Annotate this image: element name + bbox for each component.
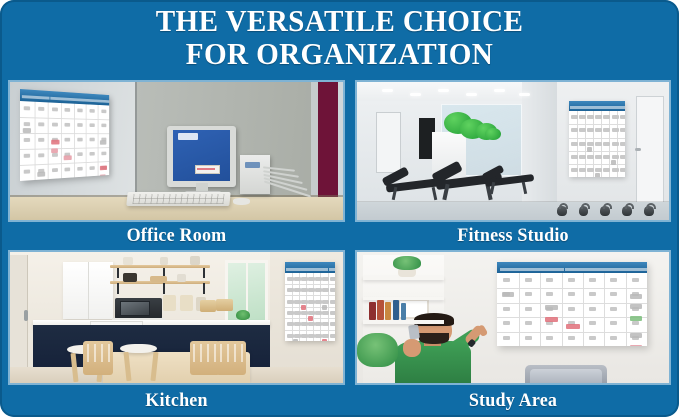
wall-calendar-fitness <box>569 101 625 177</box>
calendar-row-line <box>497 288 647 289</box>
calendar-day-number <box>65 108 71 112</box>
calendar-day-number <box>579 115 586 119</box>
shelf-item <box>177 274 187 282</box>
calendar-row-line <box>497 317 647 318</box>
calendar-row-line <box>569 164 625 165</box>
calendar-day-number <box>525 336 532 340</box>
calendar-day-number <box>322 311 329 315</box>
calendar-day-number <box>525 307 532 311</box>
calendar-weekday-label <box>300 268 307 271</box>
calendar-day-number <box>315 334 322 338</box>
calendar-note <box>322 339 327 341</box>
calendar-weekday-label <box>321 268 328 271</box>
kettlebell <box>600 206 610 216</box>
calendar-note <box>308 316 313 321</box>
calendar-day-number <box>77 138 82 142</box>
calendar-column-line <box>626 273 627 346</box>
photo-fitness-studio <box>355 80 671 222</box>
calendar-note <box>51 139 59 144</box>
photo-kitchen <box>8 250 345 385</box>
bookshelf-shelf <box>363 297 444 301</box>
panel-grid: Office Room Fitness Studio <box>8 80 671 410</box>
calendar-day-number <box>24 122 30 126</box>
calendar-day-number <box>620 155 626 159</box>
calendar-day-number <box>308 300 315 304</box>
page-title: THE VERSATILE CHOICE FOR ORGANIZATION <box>20 4 658 70</box>
calendar-header-band <box>285 262 335 272</box>
calendar-note <box>545 317 558 322</box>
calendar-day-number <box>603 155 610 159</box>
ceiling-light <box>494 89 505 92</box>
plant-pot <box>398 269 417 277</box>
calendar-grid <box>569 111 625 177</box>
calendar-weekday-label <box>570 106 578 109</box>
calendar-day-number <box>589 336 596 340</box>
dining-chair <box>190 341 220 375</box>
wall-calendar-study <box>497 262 647 346</box>
calendar-day-number <box>24 170 30 174</box>
shelf-item <box>123 257 133 265</box>
calendar-day-number <box>330 322 335 326</box>
calendar-day-number <box>612 155 619 159</box>
calendar-day-number <box>620 168 626 172</box>
calendar-day-number <box>287 300 294 304</box>
person-beard <box>419 333 449 344</box>
photo-study-area <box>355 250 671 385</box>
calendar-row-line <box>20 133 109 134</box>
ceiling-light <box>466 93 477 96</box>
calendar-row-line <box>285 284 335 285</box>
calendar-day-number <box>503 278 510 282</box>
calendar-day-number <box>38 122 44 126</box>
calendar-day-number <box>603 168 610 172</box>
book <box>369 302 375 320</box>
mouse <box>233 198 250 205</box>
calendar-day-number <box>308 311 315 315</box>
calendar-day-number <box>587 128 594 132</box>
calendar-note <box>630 294 642 299</box>
calendar-day-number <box>610 307 617 311</box>
shelf-bracket <box>203 283 205 293</box>
calendar-day-number <box>301 288 308 292</box>
kitchen-plant <box>236 310 249 320</box>
floor-plant <box>357 333 398 367</box>
title-line-2: FOR ORGANIZATION <box>20 37 658 70</box>
weight-bench <box>482 168 538 196</box>
calendar-day-number <box>322 288 329 292</box>
kettlebell <box>557 206 567 216</box>
calendar-day-number <box>287 334 294 338</box>
calendar-day-number <box>587 142 594 146</box>
calendar-row-line <box>569 138 625 139</box>
calendar-weekday-label <box>314 268 321 271</box>
calendar-day-number <box>301 300 308 304</box>
shelf-bracket <box>117 268 119 278</box>
calendar-day-number <box>301 311 308 315</box>
calendar-day-number <box>294 322 301 326</box>
calendar-day-number <box>315 322 322 326</box>
calendar-day-number <box>568 278 575 282</box>
scene-office-room <box>10 82 343 220</box>
calendar-weekday-label <box>586 268 607 271</box>
calendar-day-number <box>308 334 315 338</box>
calendar-weekday-label <box>76 98 88 101</box>
calendar-weekday-label <box>293 268 300 271</box>
calendar-row-line <box>497 303 647 304</box>
office-maroon-panel <box>318 82 338 201</box>
calendar-column-line <box>583 273 584 346</box>
calendar-column-line <box>48 102 49 179</box>
calendar-day-number <box>77 108 82 112</box>
calendar-day-number <box>52 122 58 126</box>
calendar-note <box>51 148 58 153</box>
book <box>385 302 391 320</box>
calendar-weekday-label <box>522 268 543 271</box>
calendar-day-number <box>308 322 315 326</box>
calendar-day-number <box>287 311 294 315</box>
office-wall-corner <box>135 82 137 198</box>
calendar-day-number <box>52 153 58 157</box>
sticky-note-text <box>197 168 215 170</box>
calendar-day-number <box>101 109 106 113</box>
calendar-row-line <box>285 295 335 296</box>
calendar-note <box>64 156 72 161</box>
calendar-note <box>630 316 642 321</box>
calendar-day-number <box>632 321 639 325</box>
kettlebell <box>644 206 654 216</box>
calendar-day-number <box>595 155 602 159</box>
caption-office-room: Office Room <box>16 222 336 250</box>
shelf-item <box>163 295 176 311</box>
calendar-day-number <box>620 128 626 132</box>
title-line-1: THE VERSATILE CHOICE <box>156 3 524 38</box>
book <box>393 300 399 320</box>
calendar-column-line <box>540 273 541 346</box>
calendar-day-number <box>579 155 586 159</box>
calendar-day-number <box>89 138 94 142</box>
calendar-day-number <box>603 115 610 119</box>
calendar-weekday-label <box>607 268 628 271</box>
book <box>377 300 383 320</box>
calendar-day-number <box>589 278 596 282</box>
calendar-day-number <box>287 277 294 281</box>
calendar-note <box>301 305 306 310</box>
calendar-day-number <box>330 300 335 304</box>
calendar-note <box>545 305 558 310</box>
calendar-day-number <box>612 168 619 172</box>
calendar-day-number <box>571 128 578 132</box>
calendar-day-number <box>587 168 594 172</box>
keyboard <box>126 192 231 206</box>
calendar-day-number <box>579 128 586 132</box>
shelf-bracket <box>203 268 205 278</box>
calendar-day-number <box>24 154 30 158</box>
calendar-weekday-label <box>610 106 618 109</box>
calendar-day-number <box>589 292 596 296</box>
door-handle-icon <box>24 310 28 322</box>
scene-kitchen <box>10 252 343 383</box>
calendar-day-number <box>65 167 71 171</box>
calendar-day-number <box>89 123 94 127</box>
calendar-note <box>630 333 642 338</box>
calendar-note <box>293 339 298 341</box>
calendar-day-number <box>294 277 301 281</box>
calendar-day-number <box>308 277 315 281</box>
shelf-item <box>190 256 200 265</box>
calendar-weekday-label <box>500 268 521 271</box>
calendar-day-number <box>525 321 532 325</box>
calendar-note <box>502 292 514 297</box>
calendar-day-number <box>610 336 617 340</box>
cutting-board <box>200 300 217 312</box>
calendar-day-number <box>294 334 301 338</box>
calendar-weekday-label <box>63 98 76 101</box>
calendar-day-number <box>587 155 594 159</box>
calendar-day-number <box>587 115 594 119</box>
calendar-day-number <box>77 123 82 127</box>
caption-kitchen: Kitchen <box>16 385 336 417</box>
chair-slats <box>87 344 110 362</box>
calendar-day-number <box>294 300 301 304</box>
cable-bundle <box>263 165 316 195</box>
calendar-day-number <box>315 300 322 304</box>
calendar-day-number <box>620 115 626 119</box>
calendar-day-number <box>101 152 106 156</box>
keyboard-keys <box>132 194 224 204</box>
panel-study-area <box>355 250 671 385</box>
calendar-weekday-label <box>50 97 63 101</box>
calendar-note <box>630 345 642 346</box>
calendar-day-number <box>571 168 578 172</box>
calendar-day-number <box>595 128 602 132</box>
scene-study-area <box>357 252 669 383</box>
ceiling-light <box>410 93 421 96</box>
calendar-day-number <box>294 311 301 315</box>
calendar-day-number <box>65 123 71 127</box>
calendar-weekday-label <box>618 106 625 109</box>
shelf-item <box>123 273 136 282</box>
calendar-row-line <box>285 307 335 308</box>
monitor-logo <box>178 133 198 140</box>
wall-calendar-kitchen <box>285 262 335 341</box>
kettlebell <box>579 206 589 216</box>
calendar-header-band <box>497 262 647 273</box>
calendar-note <box>587 147 593 152</box>
calendar-day-number <box>330 311 335 315</box>
calendar-day-number <box>315 311 322 315</box>
calendar-weekday-label <box>36 96 50 100</box>
microwave-door <box>120 301 150 315</box>
laptop-screen <box>530 369 602 383</box>
calendar-column-line <box>519 273 520 346</box>
calendar-weekday-label <box>99 100 109 103</box>
calendar-day-number <box>24 138 30 142</box>
calendar-day-number <box>301 322 308 326</box>
calendar-day-number <box>77 167 82 171</box>
cabinet-seam <box>88 262 89 318</box>
shelf-item <box>180 295 193 311</box>
calendar-weekday-label <box>286 268 293 271</box>
calendar-column-line <box>604 273 605 346</box>
calendar-day-number <box>38 153 44 157</box>
calendar-day-number <box>571 155 578 159</box>
calendar-day-number <box>287 288 294 292</box>
calendar-day-number <box>589 321 596 325</box>
calendar-day-number <box>24 106 30 110</box>
calendar-column-line <box>86 104 87 177</box>
tower-logo <box>245 162 260 168</box>
calendar-row-line <box>497 332 647 333</box>
book <box>401 303 407 320</box>
calendar-column-line <box>562 273 563 346</box>
calendar-note <box>100 166 107 171</box>
calendar-day-number <box>568 307 575 311</box>
calendar-column-line <box>61 103 62 179</box>
calendar-day-number <box>546 321 553 325</box>
calendar-column-line <box>98 105 99 176</box>
calendar-day-number <box>571 115 578 119</box>
scene-fitness-studio <box>357 82 669 220</box>
caption-study-area: Study Area <box>363 385 663 417</box>
calendar-day-number <box>52 168 58 172</box>
wall-shelf <box>110 265 210 268</box>
calendar-grid <box>20 101 109 181</box>
calendar-grid <box>285 273 335 341</box>
shelf-bracket <box>117 283 119 293</box>
calendar-row-line <box>569 151 625 152</box>
calendar-day-number <box>503 307 510 311</box>
calendar-day-number <box>330 277 335 281</box>
calendar-row-line <box>569 124 625 125</box>
calendar-day-number <box>610 278 617 282</box>
photo-office-room <box>8 80 345 222</box>
calendar-note <box>322 305 327 310</box>
calendar-grid <box>497 273 647 346</box>
calendar-weekday-label <box>594 106 602 109</box>
calendar-note <box>37 172 45 177</box>
calendar-day-number <box>525 278 532 282</box>
calendar-weekday-label <box>602 106 610 109</box>
calendar-day-number <box>322 322 329 326</box>
calendar-day-number <box>595 142 602 146</box>
door-handle-icon <box>635 148 641 151</box>
calendar-column-line <box>74 104 75 178</box>
calendar-day-number <box>603 142 610 146</box>
calendar-day-number <box>89 166 94 170</box>
calendar-day-number <box>546 292 553 296</box>
calendar-day-number <box>294 288 301 292</box>
panel-fitness-studio <box>355 80 671 222</box>
calendar-day-number <box>52 107 58 111</box>
calendar-day-number <box>612 128 619 132</box>
calendar-weekday-label <box>329 268 335 271</box>
person-hand-holding-phone <box>403 339 421 357</box>
ceiling-light <box>382 89 393 92</box>
calendar-day-number <box>589 307 596 311</box>
bench-leg <box>522 182 527 194</box>
calendar-day-number <box>612 142 619 146</box>
bookshelf-shelf <box>363 320 444 324</box>
calendar-day-number <box>612 115 619 119</box>
calendar-weekday-label <box>565 268 586 271</box>
calendar-note <box>100 140 106 144</box>
calendar-note <box>23 128 31 133</box>
calendar-note <box>566 324 579 329</box>
calendar-day-number <box>315 277 322 281</box>
calendar-day-number <box>301 334 308 338</box>
calendar-day-number <box>503 321 510 325</box>
calendar-day-number <box>610 321 617 325</box>
calendar-day-number <box>38 107 44 111</box>
calendar-day-number <box>330 288 335 292</box>
calendar-day-number <box>308 288 315 292</box>
calendar-day-number <box>568 336 575 340</box>
calendar-day-number <box>568 292 575 296</box>
potted-plant <box>393 256 421 270</box>
calendar-day-number <box>89 109 94 113</box>
calendar-day-number <box>287 322 294 326</box>
calendar-header-band <box>569 101 625 111</box>
shelf-item <box>160 257 168 265</box>
calendar-weekday-label <box>543 268 564 271</box>
calendar-day-number <box>610 292 617 296</box>
calendar-weekday-label <box>586 106 594 109</box>
calendar-day-number <box>571 142 578 146</box>
calendar-day-number <box>503 336 510 340</box>
calendar-day-number <box>595 168 602 172</box>
calendar-day-number <box>89 152 94 156</box>
dining-chair <box>216 341 246 375</box>
calendar-day-number <box>620 142 626 146</box>
calendar-weekday-label <box>88 99 100 102</box>
calendar-day-number <box>38 138 44 142</box>
cutting-board <box>216 299 233 311</box>
dining-chair <box>83 341 113 375</box>
calendar-day-number <box>322 334 329 338</box>
wall-calendar-office <box>20 89 109 181</box>
panel-kitchen <box>8 250 345 385</box>
product-feature-poster: THE VERSATILE CHOICE FOR ORGANIZATION <box>0 0 679 417</box>
calendar-day-number <box>603 128 610 132</box>
calendar-day-number <box>77 152 82 156</box>
calendar-day-number <box>595 115 602 119</box>
calendar-day-number <box>546 336 553 340</box>
kettlebell <box>622 206 632 216</box>
panel-office-room <box>8 80 345 222</box>
calendar-note <box>630 304 642 309</box>
calendar-day-number <box>632 278 639 282</box>
calendar-row-line <box>285 330 335 331</box>
calendar-note <box>611 160 616 165</box>
calendar-day-number <box>322 277 329 281</box>
calendar-day-number <box>322 300 329 304</box>
caption-fitness-studio: Fitness Studio <box>363 222 663 250</box>
calendar-day-number <box>301 277 308 281</box>
calendar-day-number <box>315 288 322 292</box>
calendar-day-number <box>330 334 335 338</box>
chair-slats <box>193 344 216 362</box>
calendar-day-number <box>525 292 532 296</box>
calendar-day-number <box>546 278 553 282</box>
exercise-ball <box>485 128 501 140</box>
shelf-item <box>150 276 167 283</box>
calendar-day-number <box>101 123 106 127</box>
calendar-column-line <box>34 102 35 181</box>
calendar-day-number <box>579 168 586 172</box>
calendar-weekday-label <box>578 106 586 109</box>
calendar-weekday-label <box>22 95 36 99</box>
calendar-day-number <box>579 142 586 146</box>
